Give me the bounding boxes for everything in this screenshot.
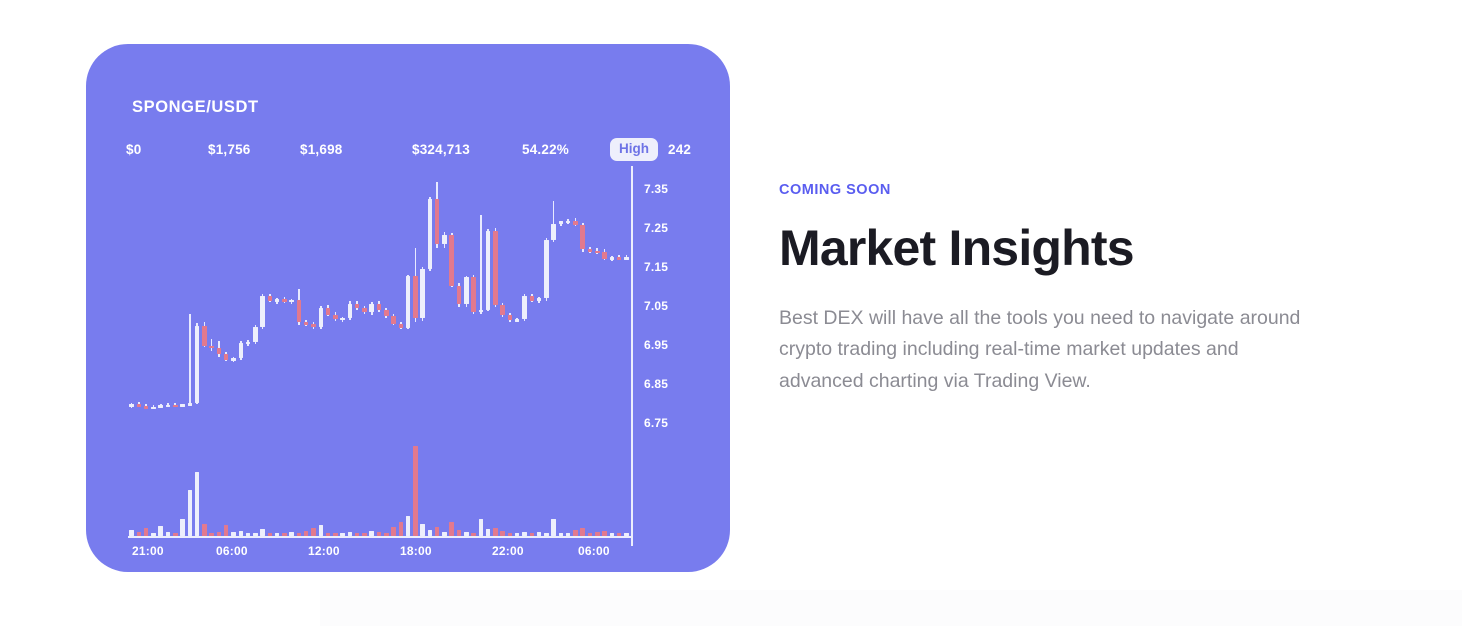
price-pane (128, 170, 630, 442)
candle-body (144, 406, 149, 409)
volume-bar (486, 529, 491, 536)
candle-body (610, 257, 615, 260)
candle-body (464, 277, 469, 304)
volume-bar (188, 490, 193, 536)
candle-body (246, 342, 251, 345)
candle-body (384, 310, 389, 316)
y-axis-tick: 6.95 (644, 338, 668, 352)
candle-body (173, 405, 178, 408)
stat-value-3: $324,713 (412, 142, 470, 157)
candle-body (362, 308, 367, 312)
volume-bar (479, 519, 484, 536)
candle-body (428, 199, 433, 269)
candle-body (304, 322, 309, 325)
volume-bar (158, 526, 163, 536)
y-axis-tick: 7.35 (644, 182, 668, 196)
market-chart-card: SPONGE/USDT $0$1,756$1,698$324,71354.22%… (86, 44, 730, 572)
candle-body (413, 276, 418, 318)
candle-wick (480, 215, 482, 314)
candle-body (209, 346, 214, 349)
candle-body (202, 326, 207, 346)
volume-bar (435, 527, 440, 536)
candle-body (435, 199, 440, 244)
candle-body (602, 252, 607, 259)
candle-body (449, 235, 454, 286)
x-axis-tick: 06:00 (578, 544, 610, 558)
volume-bar (449, 522, 454, 536)
candle-body (624, 257, 629, 260)
candle-body (180, 404, 185, 407)
volume-bar (551, 519, 556, 536)
candle-body (442, 235, 447, 244)
candle-body (559, 221, 564, 224)
candlestick-plot[interactable]: 7.357.257.157.056.956.856.7521:0006:0012… (128, 170, 680, 542)
candle-body (486, 231, 491, 310)
candle-body (551, 224, 556, 240)
candle-body (224, 354, 229, 359)
volume-bar (391, 527, 396, 536)
stat-badge-high[interactable]: High (610, 138, 658, 161)
y-axis-tick: 7.25 (644, 221, 668, 235)
chart-stats-row: $0$1,756$1,698$324,71354.22%High242 (126, 138, 714, 164)
volume-bar (406, 516, 411, 536)
candle-body (289, 300, 294, 303)
volume-bar (420, 524, 425, 536)
y-axis-tick: 7.15 (644, 260, 668, 274)
candle-body (391, 316, 396, 324)
candle-body (471, 277, 476, 312)
candle-body (297, 300, 302, 323)
volume-bar (399, 522, 404, 536)
volume-bar (224, 525, 229, 536)
candle-body (348, 304, 353, 318)
volume-bar (180, 519, 185, 536)
y-axis-line (631, 166, 633, 546)
candle-body (406, 276, 411, 327)
candle-body (355, 304, 360, 309)
description-text: Best DEX will have all the tools you nee… (779, 303, 1327, 398)
candle-body (217, 348, 222, 355)
x-axis-tick: 06:00 (216, 544, 248, 558)
candle-body (268, 296, 273, 300)
trading-pair-label: SPONGE/USDT (132, 98, 259, 117)
stat-value-2: $1,698 (300, 142, 343, 157)
candle-body (515, 319, 520, 322)
stat-value-1: $1,756 (208, 142, 251, 157)
candle-body (457, 286, 462, 305)
candle-body (129, 404, 134, 407)
x-axis-line (128, 536, 632, 538)
candle-body (275, 299, 280, 302)
candle-body (166, 405, 171, 408)
volume-bar (493, 528, 498, 536)
candle-body (617, 257, 622, 260)
x-axis-tick: 12:00 (308, 544, 340, 558)
eyebrow-label: COMING SOON (779, 182, 1339, 198)
candle-body (231, 358, 236, 361)
x-axis-tick: 22:00 (492, 544, 524, 558)
candle-body (588, 249, 593, 252)
volume-bar (311, 528, 316, 536)
candle-body (311, 324, 316, 327)
volume-bar (202, 524, 207, 536)
candle-body (195, 326, 200, 403)
candle-body (260, 296, 265, 327)
stat-value-0: $0 (126, 142, 141, 157)
candle-body (340, 318, 345, 321)
candle-body (253, 327, 258, 342)
volume-bar (260, 529, 265, 536)
candle-body (158, 405, 163, 408)
candle-wick (189, 314, 191, 405)
stat-value-6: 242 (668, 142, 691, 157)
volume-bar (580, 528, 585, 536)
candle-body (151, 407, 156, 410)
candle-body (333, 315, 338, 320)
candle-body (493, 231, 498, 306)
volume-bar (195, 472, 200, 536)
stat-value-4: 54.22% (522, 142, 569, 157)
candle-body (282, 299, 287, 302)
candle-body (326, 308, 331, 315)
x-axis-tick: 18:00 (400, 544, 432, 558)
candle-body (188, 403, 193, 406)
candle-body (420, 269, 425, 318)
candle-body (500, 305, 505, 315)
volume-bar (144, 528, 149, 536)
x-axis-tick: 21:00 (132, 544, 164, 558)
volume-bar (319, 525, 324, 536)
page-title: Market Insights (779, 222, 1339, 275)
candle-body (399, 324, 404, 328)
candle-body (573, 221, 578, 226)
candle-body (369, 304, 374, 313)
candle-body (580, 225, 585, 249)
candle-body (522, 296, 527, 319)
y-axis-tick: 6.85 (644, 377, 668, 391)
candle-body (530, 296, 535, 301)
candle-body (595, 251, 600, 254)
candle-body (319, 308, 324, 327)
candle-body (566, 221, 571, 224)
page-layout: SPONGE/USDT $0$1,756$1,698$324,71354.22%… (0, 0, 1462, 626)
y-axis-tick: 7.05 (644, 299, 668, 313)
candle-body (544, 240, 549, 298)
candle-body (508, 315, 513, 320)
info-block: COMING SOON Market Insights Best DEX wil… (779, 182, 1339, 397)
y-axis-tick: 6.75 (644, 416, 668, 430)
candle-body (239, 343, 244, 358)
candle-body (377, 304, 382, 310)
candle-body (537, 298, 542, 301)
candle-body (137, 404, 142, 407)
volume-pane (128, 442, 630, 536)
volume-bar (413, 446, 418, 536)
candle-body (479, 310, 484, 313)
